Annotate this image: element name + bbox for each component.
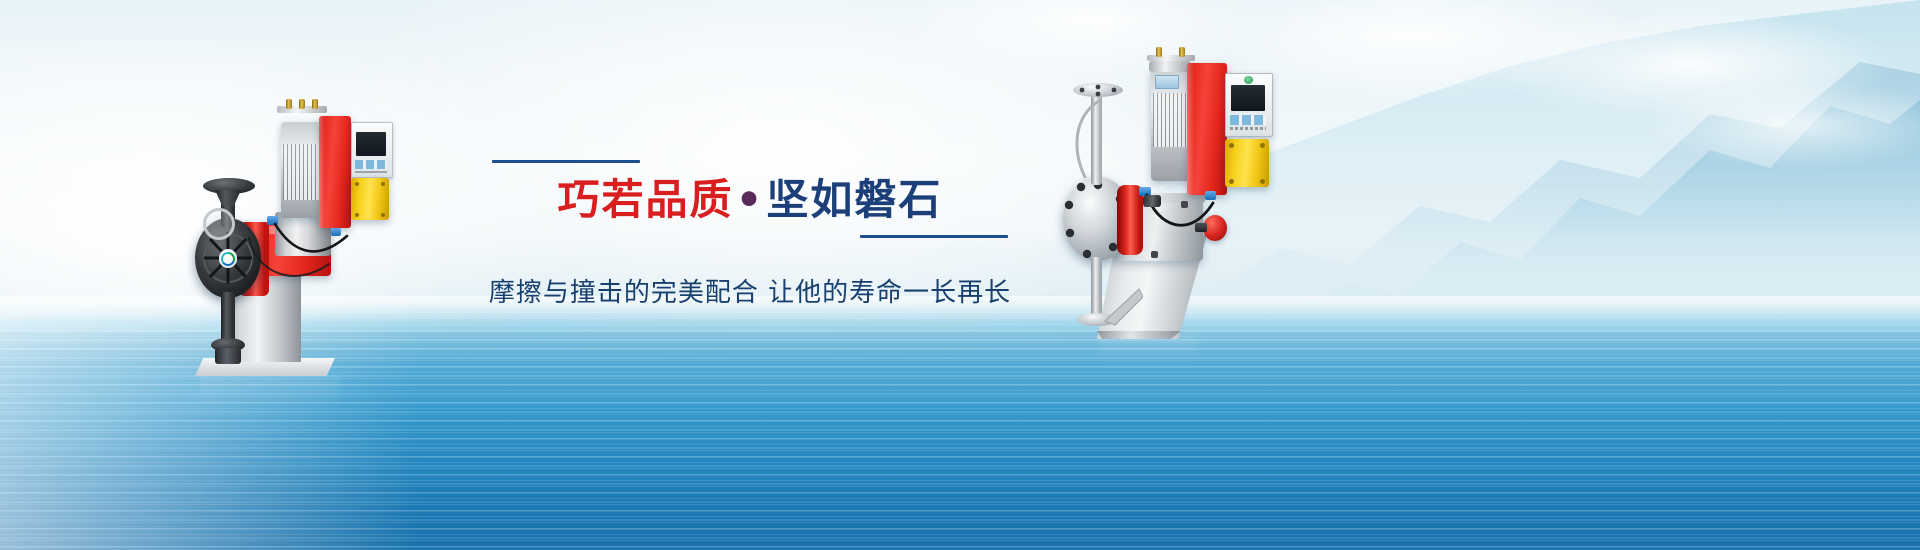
pump-right-display-logo-icon	[1244, 76, 1253, 84]
banner-headline: 巧若品质•坚如磐石	[480, 179, 1020, 221]
pump-left-motor-cap	[279, 112, 323, 126]
pump-right-motor-cap	[1149, 61, 1191, 72]
pump-right-terminal-box-screw	[1229, 179, 1234, 184]
pump-right-panel-label	[1230, 127, 1266, 130]
product-image-pump-right	[1055, 35, 1295, 350]
pump-right-display-buttons[interactable]	[1230, 115, 1266, 125]
pump-left-brass-fitting	[286, 99, 292, 109]
product-image-pump-left	[185, 80, 415, 400]
pump-left-panel-label	[355, 171, 387, 173]
headline-blue-text: 坚如磐石	[766, 175, 942, 224]
pump-left-flange-neck	[215, 190, 241, 206]
pump-right-terminal-box-screw	[1260, 143, 1265, 148]
pump-right-motor-nameplate	[1155, 75, 1179, 89]
product-hero-banner: 巧若品质•坚如磐石 摩擦与撞击的完美配合 让他的寿命一长再长	[0, 0, 1920, 550]
pump-head-brand-logo-icon	[219, 250, 237, 268]
pump-right-terminal-box-screw	[1260, 179, 1265, 184]
pump-left-cable-secondary	[243, 230, 333, 292]
pump-right-terminal-box-screw	[1229, 143, 1234, 148]
pump-left-gauge-ring-icon	[203, 208, 235, 240]
pump-right-cable-gland	[1143, 195, 1161, 207]
pump-left-terminal-box-screw	[381, 213, 385, 217]
pump-left-motor-fins	[283, 144, 319, 200]
pump-left-bottom-fitting	[215, 348, 241, 364]
decorative-rule-bottom	[860, 235, 1008, 238]
pump-right-gearbox-bolt	[1151, 251, 1158, 258]
pump-left-discharge-stem	[221, 292, 235, 344]
pump-right-flange-bolts	[1073, 83, 1123, 97]
pump-left-brass-fitting	[299, 99, 305, 109]
pump-right-brass-fitting	[1156, 47, 1162, 57]
pump-right-motor-fins	[1153, 93, 1187, 147]
decorative-rule-top	[492, 160, 640, 163]
banner-copy-block: 巧若品质•坚如磐石 摩擦与撞击的完美配合 让他的寿命一长再长	[480, 160, 1020, 306]
pump-right-support-bracket	[1099, 287, 1143, 327]
pump-left-display-screen	[356, 132, 386, 156]
pump-left-terminal-box-screw	[355, 213, 359, 217]
pump-left-brass-fitting	[312, 99, 318, 109]
pump-left-reflection	[199, 376, 339, 410]
pump-right-relief-loop	[1069, 97, 1103, 183]
pump-right-motor-top-plate	[1147, 55, 1195, 61]
pump-left-control-box-edge	[319, 116, 325, 228]
pump-left-display-buttons	[355, 160, 387, 169]
pump-right-reflection	[1099, 335, 1199, 365]
headline-dot-separator: •	[734, 175, 767, 224]
pump-right-brass-fitting	[1179, 47, 1185, 57]
pump-left-terminal-box-screw	[381, 182, 385, 186]
pump-right-control-box-edge	[1187, 63, 1194, 195]
pump-left-terminal-box-screw	[355, 182, 359, 186]
headline-red-text: 巧若品质	[558, 175, 734, 224]
pump-right-display-screen	[1231, 85, 1265, 111]
banner-subheadline: 摩擦与撞击的完美配合 让他的寿命一长再长	[480, 280, 1020, 306]
